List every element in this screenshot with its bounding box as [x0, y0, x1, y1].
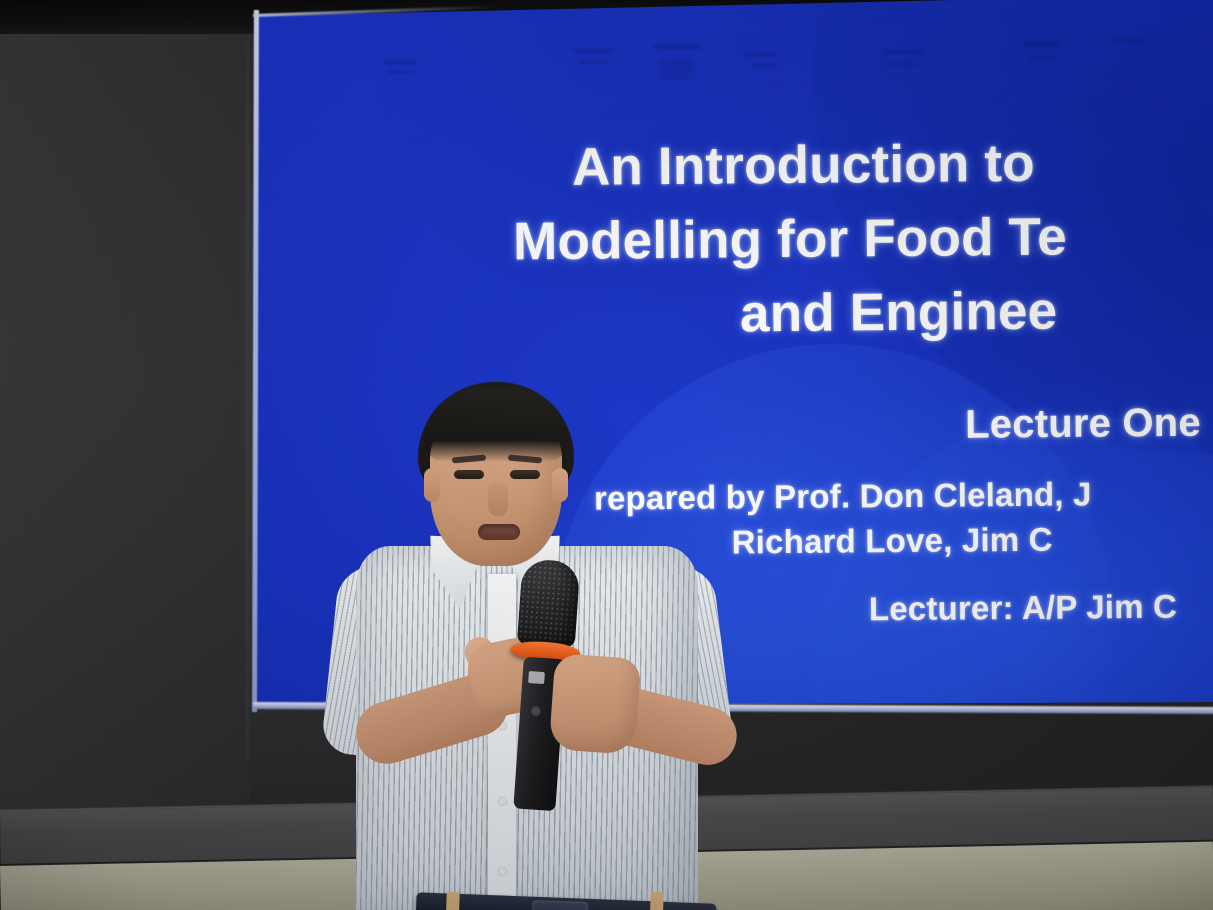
slide-title-line-3: and Enginee — [253, 272, 1213, 355]
presenter-head — [416, 382, 576, 572]
presenter-mouth — [478, 524, 520, 540]
presenter-eye-left — [454, 470, 484, 479]
presenter-ear-left — [424, 468, 440, 502]
slide-title-line-2: Modelling for Food Te — [253, 198, 1213, 281]
shirt-button — [499, 868, 506, 875]
presenter — [320, 378, 750, 910]
presenter-nose — [488, 482, 508, 516]
presentation-photo: An Introduction to Modelling for Food Te… — [0, 0, 1213, 910]
microphone-label — [528, 671, 545, 684]
slide-title: An Introduction to Modelling for Food Te… — [252, 124, 1213, 355]
presenter-eye-right — [510, 470, 540, 479]
belt-loop — [445, 892, 460, 910]
room-wall-left-return — [0, 20, 250, 820]
belt-buckle — [532, 900, 589, 910]
belt-loop — [649, 892, 664, 910]
presenter-ear-right — [552, 468, 568, 502]
presenter-right-hand — [549, 653, 641, 755]
presenter-hair-fringe — [424, 390, 568, 462]
slide-title-line-1: An Introduction to — [252, 124, 1213, 207]
wall-corner-line — [246, 0, 249, 760]
